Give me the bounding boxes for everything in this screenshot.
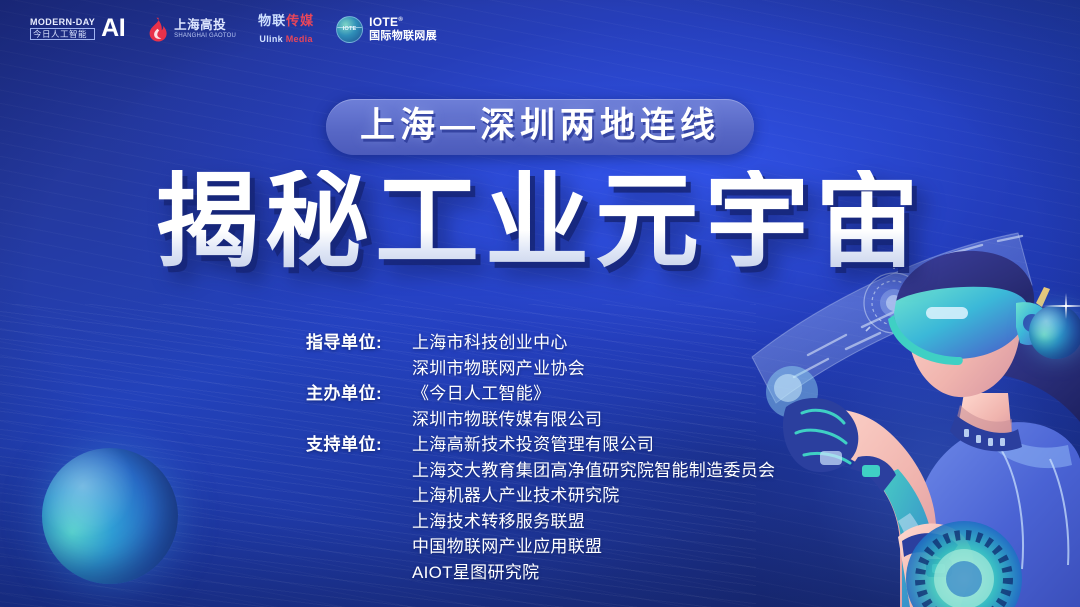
logo-modern-day-ai: MODERN-DAY 今日人工智能 AI [30, 18, 125, 41]
logo-shanghai-gaotou-en: SHANGHAI GAOTOU [174, 33, 236, 39]
visor-highlight [926, 307, 968, 319]
poster-canvas: MODERN-DAY 今日人工智能 AI 上海高投 SHANGHAI GAOTO… [0, 0, 1080, 607]
credit-values-guidance: 上海市科技创业中心 深圳市物联网产业协会 [412, 330, 585, 381]
globe-icon: IOTE [336, 16, 363, 43]
logo-ulink-media-cn-blue: 物联 [258, 13, 286, 28]
logo-shanghai-gaotou: 上海高投 SHANGHAI GAOTOU [147, 17, 236, 42]
subtitle-text: 上海—深圳两地连线 [360, 108, 720, 143]
credit-value: 深圳市物联传媒有限公司 [412, 407, 602, 433]
logo-modern-day-ai-cn: 今日人工智能 [30, 28, 95, 41]
credit-value: 深圳市物联网产业协会 [412, 356, 585, 382]
credit-value: 上海市科技创业中心 [412, 330, 585, 356]
logo-iote-text: IOTE® 国际物联网展 [369, 16, 437, 42]
credit-label-guidance: 指导单位: [306, 330, 412, 356]
credit-value: 《今日人工智能》 [412, 381, 602, 407]
logo-ulink-media-en: Ulink Media [259, 35, 312, 44]
logo-ulink-media: 物联传媒 Ulink Media [258, 14, 314, 44]
logo-iote-cn: 国际物联网展 [369, 31, 437, 43]
credit-label-organizer: 主办单位: [306, 381, 412, 407]
credit-value: 上海高新技术投资管理有限公司 [412, 432, 775, 458]
credits-block: 指导单位: 上海市科技创业中心 深圳市物联网产业协会 主办单位: 《今日人工智能… [306, 330, 775, 585]
page-title: 揭秘工业元宇宙 [155, 170, 925, 274]
antenna-icon [1036, 287, 1050, 307]
credit-values-organizer: 《今日人工智能》 深圳市物联传媒有限公司 [412, 381, 602, 432]
logo-iote-trademark: ® [398, 17, 403, 23]
globe-icon-label: IOTE [337, 17, 362, 42]
logo-modern-day-ai-en: MODERN-DAY [30, 18, 95, 27]
credit-value: 上海交大教育集团高净值研究院智能制造委员会 [412, 458, 775, 484]
logo-ulink-media-en-red: Media [286, 34, 313, 44]
logo-modern-day-ai-mark: AI [101, 18, 125, 39]
logo-shanghai-gaotou-text: 上海高投 SHANGHAI GAOTOU [174, 19, 236, 40]
logo-ulink-media-cn-red: 传媒 [286, 13, 314, 28]
logo-iote-en: IOTE® [369, 16, 437, 29]
credit-label-support: 支持单位: [306, 432, 412, 458]
logo-iote-en-word: IOTE [369, 15, 398, 29]
main-title-text: 揭秘工业元宇宙 [155, 170, 925, 274]
credit-value: 中国物联网产业应用联盟 [412, 534, 775, 560]
credit-row-support: 支持单位: 上海高新技术投资管理有限公司 上海交大教育集团高净值研究院智能制造委… [306, 432, 775, 585]
glove-patch [820, 451, 842, 465]
sponsor-logo-bar: MODERN-DAY 今日人工智能 AI 上海高投 SHANGHAI GAOTO… [30, 14, 437, 44]
credit-value: AIOT星图研究院 [412, 560, 775, 586]
glow-orb-core [774, 374, 802, 402]
credit-values-support: 上海高新技术投资管理有限公司 上海交大教育集团高净值研究院智能制造委员会 上海机… [412, 432, 775, 585]
credit-value: 上海技术转移服务联盟 [412, 509, 775, 535]
logo-ulink-media-cn: 物联传媒 [258, 14, 314, 27]
flame-icon [147, 17, 168, 42]
planet-sphere-icon [42, 448, 178, 584]
logo-iote: IOTE IOTE® 国际物联网展 [336, 16, 437, 43]
planet-sphere-small-icon [1029, 305, 1080, 359]
logo-shanghai-gaotou-cn: 上海高投 [174, 19, 236, 32]
logo-modern-day-ai-text: MODERN-DAY 今日人工智能 [30, 18, 95, 41]
credit-row-guidance: 指导单位: 上海市科技创业中心 深圳市物联网产业协会 [306, 330, 775, 381]
logo-ulink-media-en-blue: Ulink [259, 34, 283, 44]
credit-value: 上海机器人产业技术研究院 [412, 483, 775, 509]
subtitle-pill: 上海—深圳两地连线 [326, 99, 754, 155]
credit-row-organizer: 主办单位: 《今日人工智能》 深圳市物联传媒有限公司 [306, 381, 775, 432]
wristband-light [862, 465, 880, 477]
